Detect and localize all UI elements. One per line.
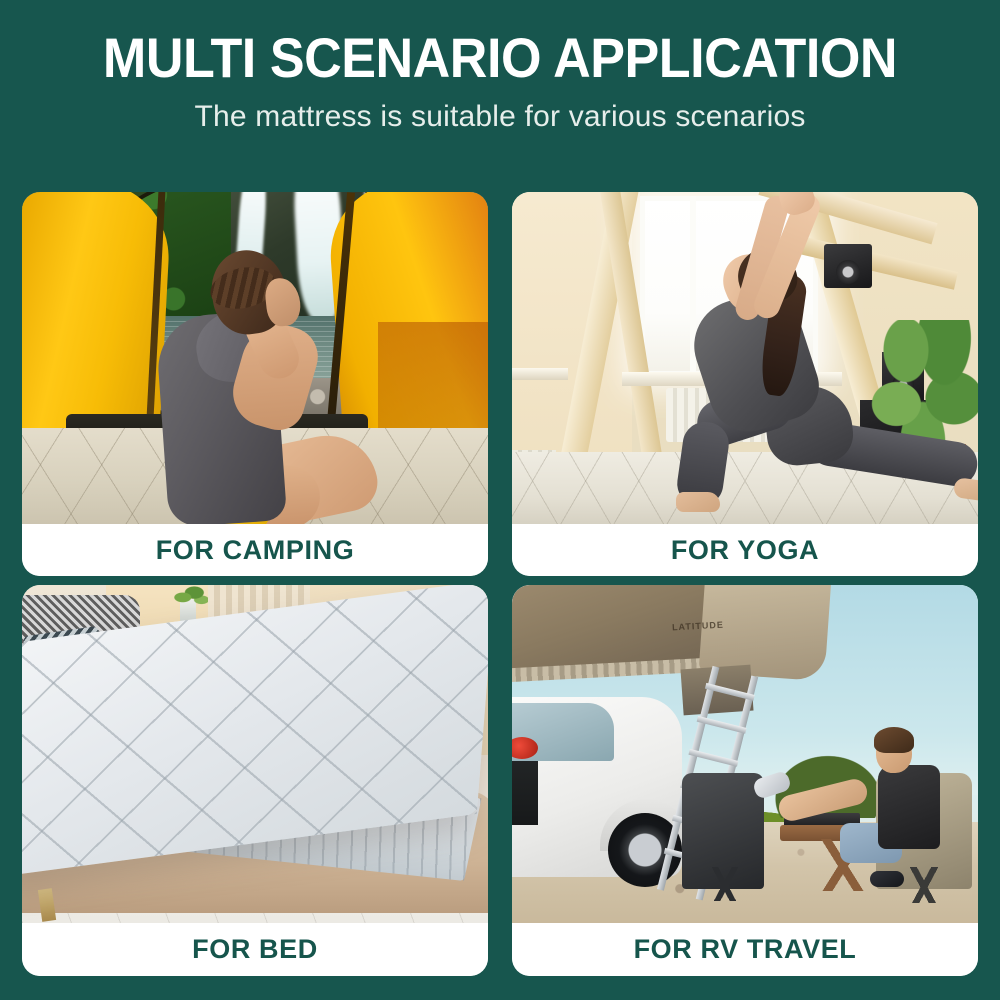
rv-illustration: LATITUDE (512, 585, 978, 923)
bed-label: FOR BED (22, 923, 488, 976)
camper-man-torso (878, 765, 940, 849)
camp-chair-left-legs (680, 867, 770, 901)
scenario-card-bed[interactable]: FOR BED (22, 585, 488, 976)
vase-leaves (172, 585, 208, 607)
page-title: MULTI SCENARIO APPLICATION (35, 30, 965, 86)
header: MULTI SCENARIO APPLICATION The mattress … (0, 0, 1000, 134)
yogi-front-foot (676, 492, 720, 512)
window-sill-left (512, 368, 568, 380)
camping-illustration (22, 192, 488, 524)
scenario-card-grid: FOR CAMPING (22, 192, 978, 976)
camper-man-hair (874, 727, 914, 753)
yoga-label: FOR YOGA (512, 524, 978, 576)
yoga-photo (512, 192, 978, 524)
yoga-illustration (512, 192, 978, 524)
camping-photo (22, 192, 488, 524)
rv-travel-label: FOR RV TRAVEL (512, 923, 978, 976)
bed-illustration (22, 585, 488, 923)
rv-photo: LATITUDE (512, 585, 978, 923)
scenario-card-yoga[interactable]: FOR YOGA (512, 192, 978, 576)
camper-man-shoe-down (870, 871, 904, 887)
camping-label: FOR CAMPING (22, 524, 488, 576)
page-subtitle: The mattress is suitable for various sce… (0, 100, 1000, 134)
camper-figure (140, 230, 350, 524)
bed-photo (22, 585, 488, 923)
scenario-card-camping[interactable]: FOR CAMPING (22, 192, 488, 576)
scenario-card-rv-travel[interactable]: LATITUDE (512, 585, 978, 976)
infographic-page: MULTI SCENARIO APPLICATION The mattress … (0, 0, 1000, 1000)
yogi-figure (662, 196, 952, 516)
